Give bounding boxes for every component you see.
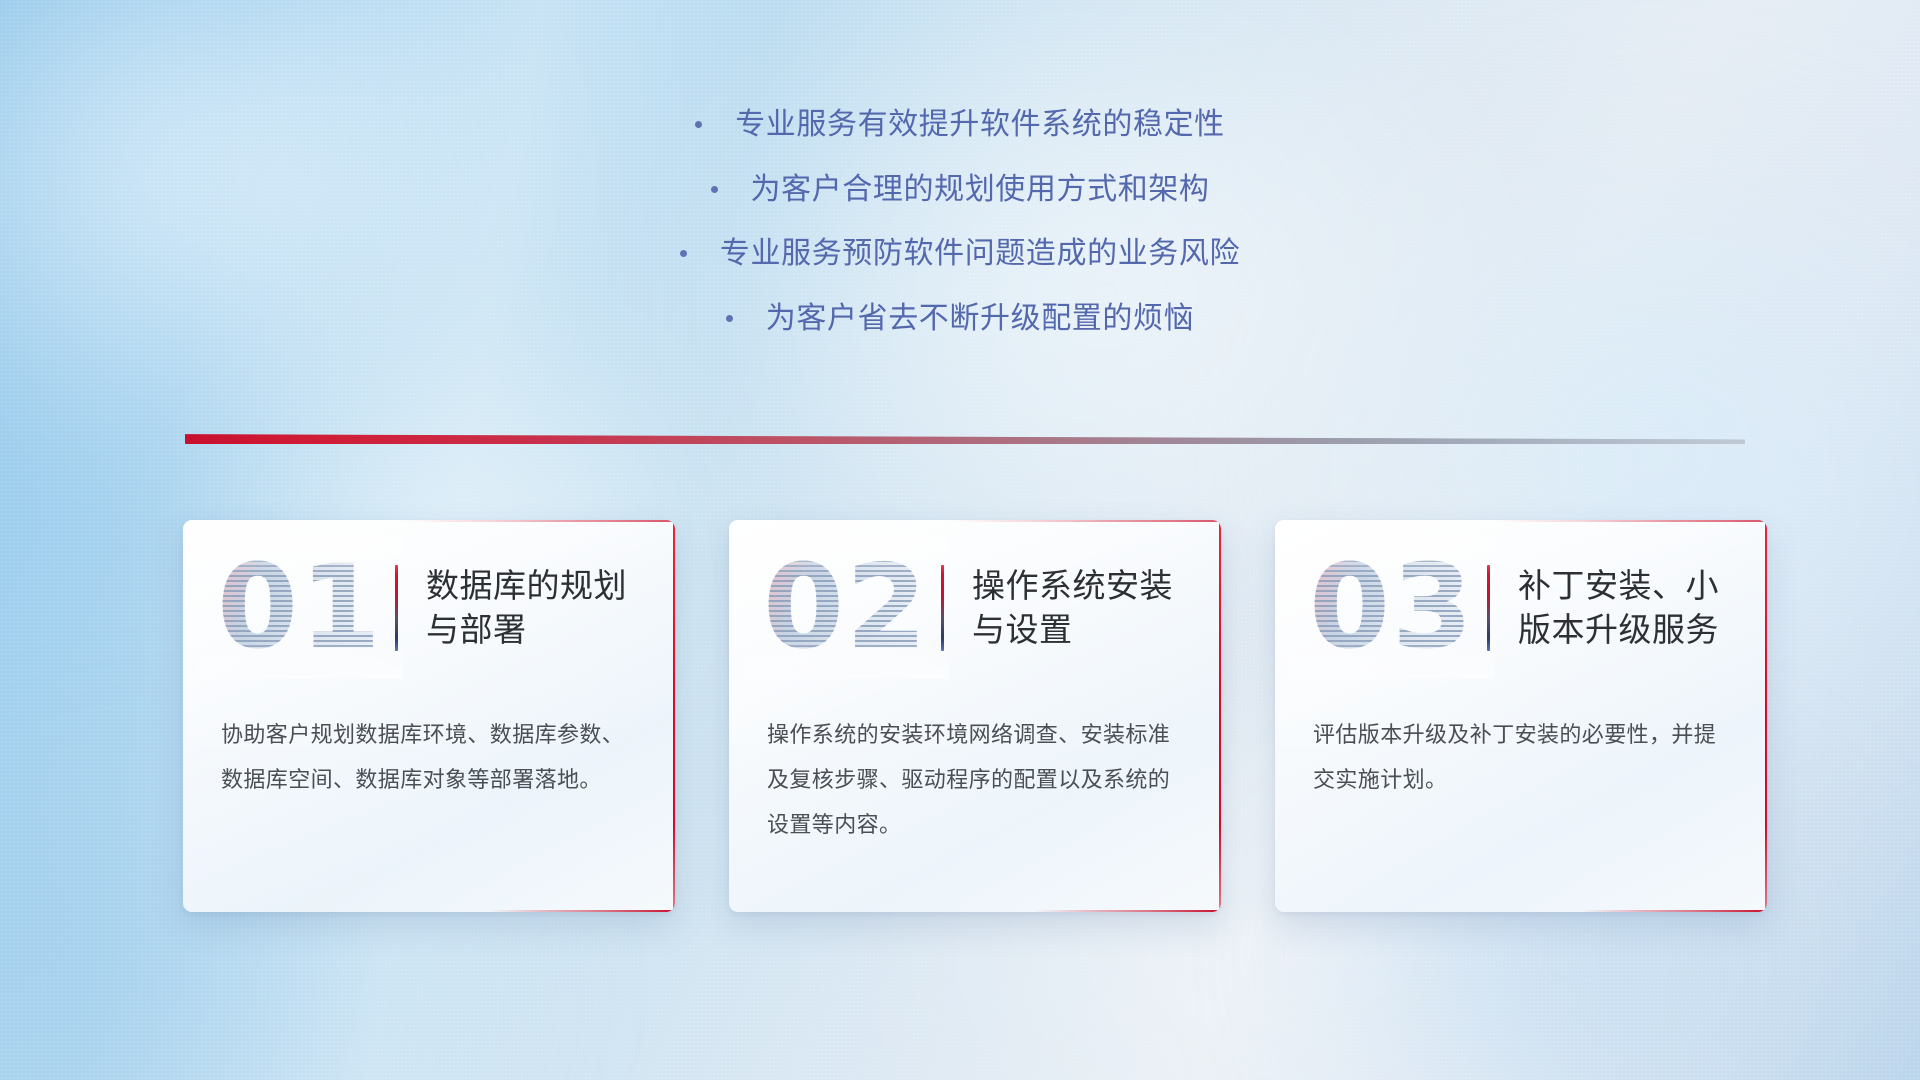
bullet-dot-icon — [695, 121, 702, 128]
slide-content: 专业服务有效提升软件系统的稳定性 为客户合理的规划使用方式和架构 专业服务预防软… — [0, 0, 1920, 1080]
card-title-divider-icon — [941, 565, 944, 651]
service-card-group: 01 数据库的规划与部署 协助客户规划数据库环境、数据库参数、数据库空间、数据库… — [183, 520, 1767, 912]
card-bottom-accent — [1034, 910, 1221, 912]
card-number-label: 01 — [217, 550, 382, 666]
section-divider — [185, 432, 1745, 448]
card-number-label: 03 — [1309, 550, 1474, 666]
divider-highlight — [185, 432, 1745, 444]
card-title-divider-icon — [1487, 565, 1490, 651]
bullet-item-label: 专业服务有效提升软件系统的稳定性 — [735, 106, 1225, 144]
card-bottom-accent — [1580, 910, 1767, 912]
card-description: 协助客户规划数据库环境、数据库参数、数据库空间、数据库对象等部署落地。 — [221, 712, 637, 802]
bullet-list: 专业服务有效提升软件系统的稳定性 为客户合理的规划使用方式和架构 专业服务预防软… — [0, 106, 1920, 337]
bullet-dot-icon — [726, 315, 733, 322]
bullet-item-label: 专业服务预防软件问题造成的业务风险 — [720, 235, 1240, 273]
card-header: 01 数据库的规划与部署 — [183, 520, 675, 696]
card-number-label: 02 — [763, 550, 928, 666]
service-card[interactable]: 03 补丁安装、小版本升级服务 评估版本升级及补丁安装的必要性，并提交实施计划。 — [1275, 520, 1767, 912]
card-description: 操作系统的安装环境网络调查、安装标准及复核步骤、驱动程序的配置以及系统的设置等内… — [767, 712, 1183, 847]
card-number-watermark: 03 — [1297, 546, 1487, 671]
card-title: 补丁安装、小版本升级服务 — [1518, 564, 1750, 652]
card-title: 操作系统安装与设置 — [972, 564, 1204, 652]
service-card[interactable]: 02 操作系统安装与设置 操作系统的安装环境网络调查、安装标准及复核步骤、驱动程… — [729, 520, 1221, 912]
list-item: 为客户省去不断升级配置的烦恼 — [726, 300, 1194, 338]
card-title-divider-icon — [395, 565, 398, 651]
list-item: 专业服务有效提升软件系统的稳定性 — [695, 106, 1225, 144]
card-description: 评估版本升级及补丁安装的必要性，并提交实施计划。 — [1313, 712, 1729, 802]
card-number-watermark: 01 — [205, 546, 395, 671]
card-title: 数据库的规划与部署 — [426, 564, 658, 652]
card-header: 02 操作系统安装与设置 — [729, 520, 1221, 696]
bullet-dot-icon — [680, 250, 687, 257]
card-number-watermark: 02 — [751, 546, 941, 671]
bullet-item-label: 为客户省去不断升级配置的烦恼 — [766, 300, 1194, 338]
list-item: 专业服务预防软件问题造成的业务风险 — [680, 235, 1240, 273]
card-bottom-accent — [488, 910, 675, 912]
service-card[interactable]: 01 数据库的规划与部署 协助客户规划数据库环境、数据库参数、数据库空间、数据库… — [183, 520, 675, 912]
card-header: 03 补丁安装、小版本升级服务 — [1275, 520, 1767, 696]
bullet-item-label: 为客户合理的规划使用方式和架构 — [751, 171, 1210, 209]
list-item: 为客户合理的规划使用方式和架构 — [711, 171, 1210, 209]
bullet-dot-icon — [711, 186, 718, 193]
